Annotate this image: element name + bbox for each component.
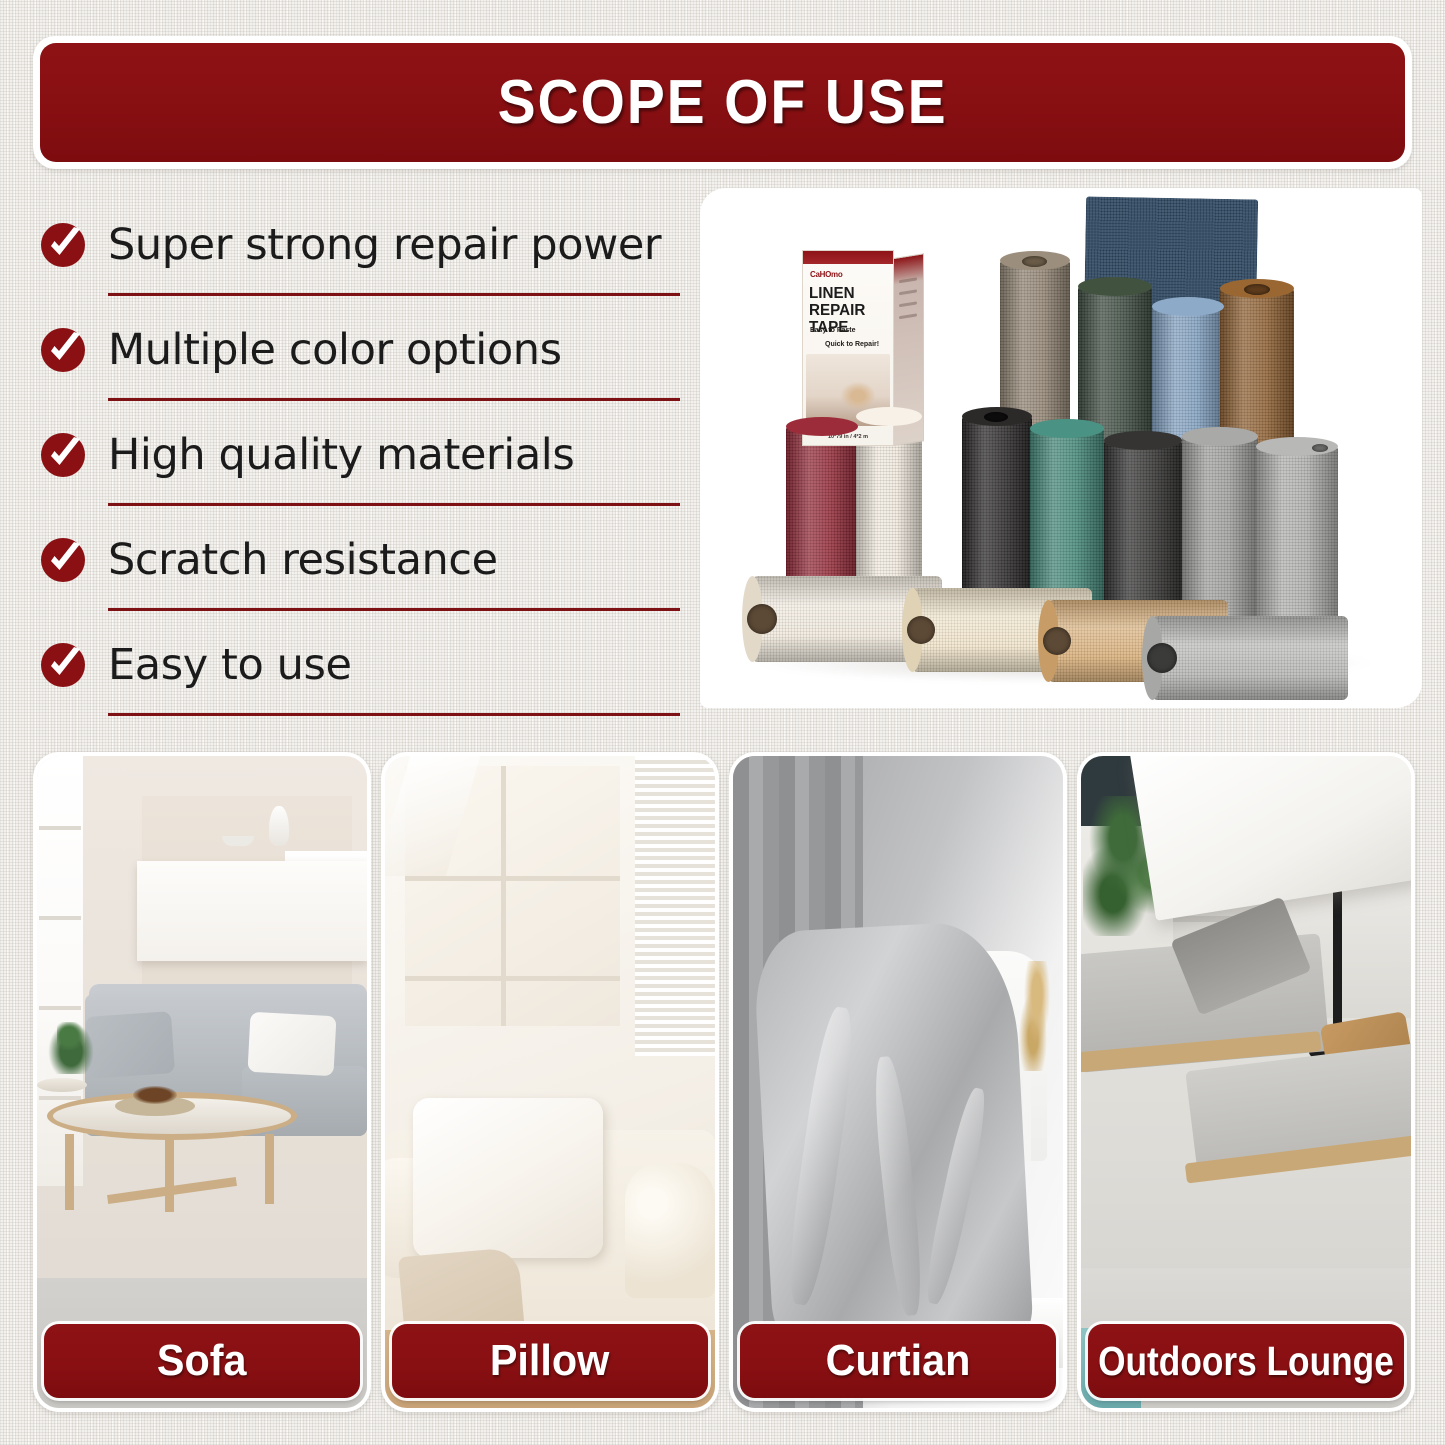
gray-curtain-photo <box>733 756 1063 1408</box>
feature-item-1: Multiple color options <box>40 297 680 402</box>
roll-core <box>907 616 935 644</box>
header-banner: SCOPE OF USE <box>33 36 1412 169</box>
pillow-armchair-photo <box>385 756 715 1408</box>
card-label-text: Sofa <box>157 1336 247 1386</box>
roll-top <box>1182 427 1258 446</box>
feature-label: Easy to use <box>108 640 352 690</box>
check-circle-icon <box>40 222 86 268</box>
feature-label: Scratch resistance <box>108 535 498 585</box>
roll-top <box>856 407 922 426</box>
feature-divider <box>108 293 680 296</box>
roll-core <box>1312 444 1328 452</box>
product-box-sub2: Quick to Repair! <box>825 341 879 348</box>
roll-top <box>1030 419 1104 438</box>
scope-of-use-infographic: SCOPE OF USE Super strong repair power M… <box>0 0 1445 1445</box>
roll-core <box>747 604 777 634</box>
product-scene: CaHOmo LINEN REPAIR TAPE Easy to Paste Q… <box>700 188 1422 708</box>
roll-core <box>984 412 1008 422</box>
brand-logo: CaHOmo <box>810 270 842 279</box>
roll-silver-gray-lying <box>1152 616 1348 700</box>
card-label-outdoors-lounge: Outdoors Lounge <box>1088 1324 1404 1398</box>
product-box-title-line1: LINEN <box>809 285 889 302</box>
white-pillow <box>413 1098 603 1258</box>
feature-item-3: Scratch resistance <box>40 507 680 612</box>
feature-item-2: High quality materials <box>40 402 680 507</box>
use-case-card-pillow[interactable]: Pillow <box>381 752 719 1412</box>
feature-label: High quality materials <box>108 430 574 480</box>
feature-list: Super strong repair power Multiple color… <box>40 192 680 732</box>
card-label-sofa: Sofa <box>44 1324 360 1398</box>
use-case-card-outdoors-lounge[interactable]: Outdoors Lounge <box>1077 752 1415 1412</box>
product-box-sub1: Easy to Paste <box>810 327 856 334</box>
roll-core <box>1147 643 1177 673</box>
roll-light-gray <box>1256 446 1338 642</box>
product-photo-panel: CaHOmo LINEN REPAIR TAPE Easy to Paste Q… <box>700 188 1422 708</box>
roll-core <box>1043 627 1071 655</box>
card-label-curtain: Curtian <box>740 1324 1056 1398</box>
feature-label: Multiple color options <box>108 325 562 375</box>
sofa-living-room-photo <box>37 756 367 1408</box>
use-case-card-curtain[interactable]: Curtian <box>729 752 1067 1412</box>
use-case-card-row: Sofa <box>33 752 1415 1412</box>
roll-top <box>1152 297 1224 316</box>
feature-divider <box>108 713 680 716</box>
card-label-pillow: Pillow <box>392 1324 708 1398</box>
check-circle-icon <box>40 642 86 688</box>
feature-label: Super strong repair power <box>108 220 661 270</box>
roll-top <box>1078 277 1152 296</box>
feature-item-0: Super strong repair power <box>40 192 680 297</box>
window-blinds <box>635 756 715 1056</box>
feature-divider <box>108 608 680 611</box>
roll-top <box>786 417 858 436</box>
product-box-top-band <box>803 251 893 264</box>
check-circle-icon <box>40 327 86 373</box>
vase <box>269 806 289 846</box>
dried-flowers <box>1017 961 1057 1071</box>
roll-core <box>1022 256 1047 267</box>
feature-item-4: Easy to use <box>40 612 680 717</box>
plant <box>45 1018 97 1074</box>
gray-cushion <box>85 1011 175 1079</box>
check-circle-icon <box>40 432 86 478</box>
card-label-text: Curtian <box>826 1336 971 1386</box>
feature-divider <box>108 398 680 401</box>
card-label-text: Pillow <box>490 1336 609 1386</box>
roll-top <box>1104 431 1182 450</box>
header-banner-fill: SCOPE OF USE <box>40 43 1405 162</box>
outdoor-lounge-chairs-photo <box>1081 756 1411 1408</box>
feature-divider <box>108 503 680 506</box>
card-label-text: Outdoors Lounge <box>1098 1338 1394 1385</box>
check-circle-icon <box>40 537 86 583</box>
white-cushion <box>247 1012 336 1076</box>
page-title: SCOPE OF USE <box>498 67 948 138</box>
roll-core <box>1244 284 1270 295</box>
use-case-card-sofa[interactable]: Sofa <box>33 752 371 1412</box>
product-box-side-bullets <box>899 277 917 319</box>
